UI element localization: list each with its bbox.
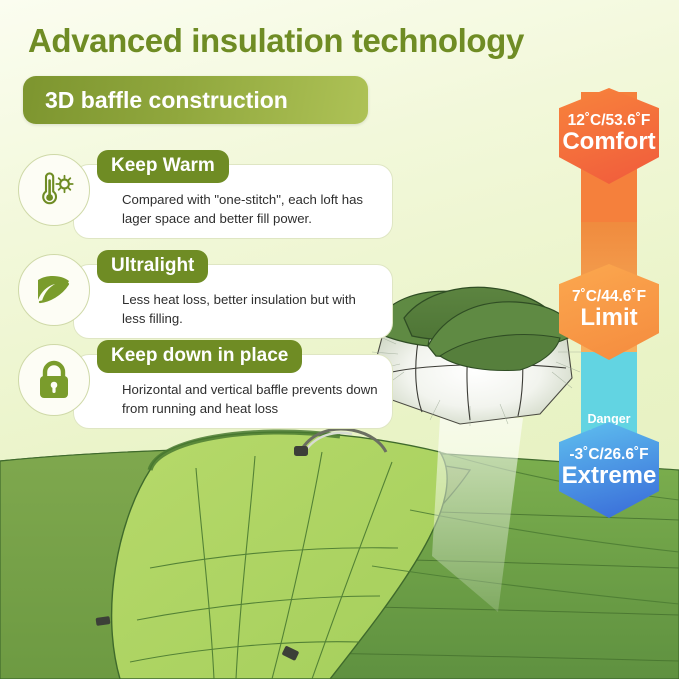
extreme-level-name: Extreme bbox=[562, 463, 657, 489]
comfort-level-name: Comfort bbox=[562, 129, 655, 155]
limit-level-badge: 7˚C/44.6˚F Limit bbox=[559, 264, 659, 360]
limit-temperature: 7˚C/44.6˚F bbox=[572, 288, 646, 305]
feature-card-title: Keep Warm bbox=[97, 150, 229, 183]
thermometer-sun-icon bbox=[18, 154, 90, 226]
feature-card-text: Less heat loss, better insulation but wi… bbox=[122, 291, 378, 328]
temperature-scale: Comfort Range Transition Range Danger Ra… bbox=[558, 92, 660, 484]
feature-card-text: Horizontal and vertical baffle prevents … bbox=[122, 381, 378, 418]
feather-icon bbox=[18, 254, 90, 326]
baffle-construction-badge-label: 3D baffle construction bbox=[45, 87, 288, 114]
extreme-temperature: -3˚C/26.6˚F bbox=[569, 446, 648, 463]
comfort-temperature: 12˚C/53.6˚F bbox=[568, 112, 651, 129]
limit-level-name: Limit bbox=[580, 305, 637, 331]
3d-baffle-cutaway-diagram bbox=[372, 287, 584, 426]
page-title: Advanced insulation technology bbox=[28, 22, 658, 60]
baffle-construction-badge: 3D baffle construction bbox=[23, 76, 368, 124]
lock-icon bbox=[18, 344, 90, 416]
feature-card-text: Compared with "one-stitch", each loft ha… bbox=[122, 191, 378, 228]
feature-card-title: Ultralight bbox=[97, 250, 208, 283]
feature-card-title: Keep down in place bbox=[97, 340, 302, 373]
